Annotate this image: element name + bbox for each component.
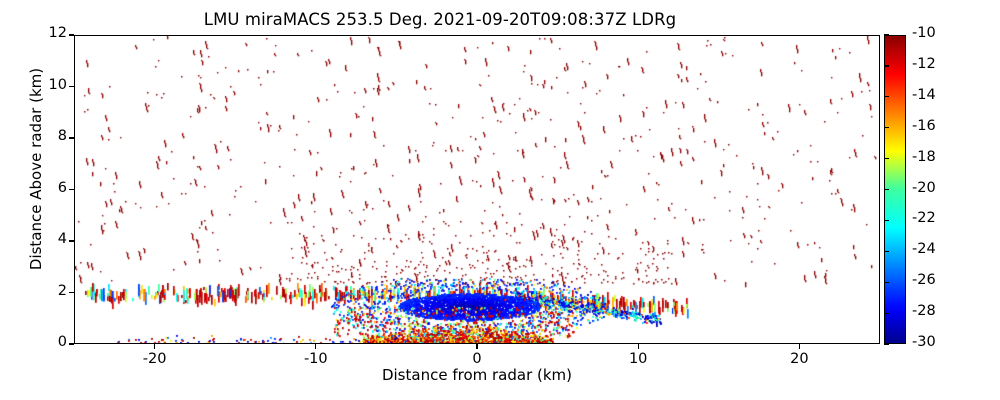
colorbar-tick-mark [884, 96, 889, 97]
colorbar-tick-mark [884, 313, 889, 314]
y-tick-label: 6 [3, 180, 67, 196]
colorbar-tick-mark [884, 282, 889, 283]
y-tick-label: 12 [3, 25, 67, 41]
y-tick-label: 10 [3, 77, 67, 93]
figure-title: LMU miraMACS 253.5 Deg. 2021-09-20T09:08… [0, 10, 880, 29]
colorbar-tick-mark [884, 158, 889, 159]
x-axis-label: Distance from radar (km) [74, 366, 880, 384]
plot-area [74, 35, 880, 344]
y-tick-label: 2 [3, 283, 67, 299]
colorbar-tick-label: -26 [912, 272, 936, 288]
colorbar-tick-mark [884, 127, 889, 128]
colorbar-tick-label: -14 [912, 87, 936, 103]
y-tick-mark [69, 137, 74, 138]
y-tick-mark [69, 86, 74, 87]
colorbar-tick-mark [884, 251, 889, 252]
x-tick-mark [315, 344, 316, 349]
colorbar-tick-label: -30 [912, 334, 936, 350]
y-tick-label: 4 [3, 231, 67, 247]
x-tick-label: -20 [115, 351, 195, 367]
y-tick-mark [69, 240, 74, 241]
colorbar-tick-label: -18 [912, 149, 936, 165]
x-tick-mark [638, 344, 639, 349]
colorbar-tick-label: -16 [912, 118, 936, 134]
colorbar-tick-label: -22 [912, 210, 936, 226]
colorbar-tick-mark [884, 65, 889, 66]
y-tick-label: 0 [3, 334, 67, 350]
radar-rhi-figure: LMU miraMACS 253.5 Deg. 2021-09-20T09:08… [0, 0, 1000, 400]
colorbar-tick-mark [884, 220, 889, 221]
colorbar-tick-label: -20 [912, 180, 936, 196]
y-tick-mark [69, 292, 74, 293]
colorbar-tick-mark [884, 34, 889, 35]
x-tick-label: 0 [437, 351, 517, 367]
x-tick-mark [476, 344, 477, 349]
colorbar-tick-label: -28 [912, 303, 936, 319]
x-tick-mark [154, 344, 155, 349]
y-tick-label: 8 [3, 128, 67, 144]
colorbar-tick-mark [884, 343, 889, 344]
colorbar-tick-label: -10 [912, 25, 936, 41]
y-tick-mark [69, 343, 74, 344]
colorbar-tick-mark [884, 189, 889, 190]
colorbar-tick-label: -24 [912, 241, 936, 257]
colorbar-tick-label: -12 [912, 56, 936, 72]
x-tick-mark [799, 344, 800, 349]
y-axis-label: Distance Above radar (km) [27, 14, 45, 324]
x-tick-label: 20 [759, 351, 839, 367]
x-tick-label: 10 [598, 351, 678, 367]
scatter-canvas [75, 36, 880, 344]
y-tick-mark [69, 189, 74, 190]
y-tick-mark [69, 34, 74, 35]
x-tick-label: -10 [276, 351, 356, 367]
